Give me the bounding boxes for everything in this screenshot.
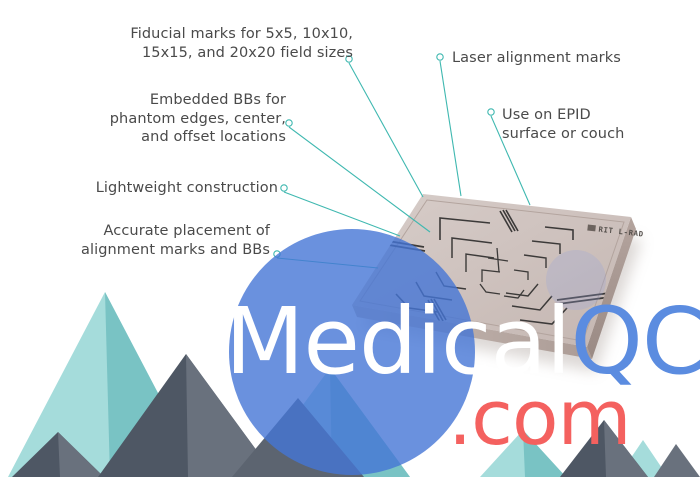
callout-embedded-bbs-leader-line bbox=[289, 127, 430, 232]
callout-use-on-epid-marker-dot bbox=[488, 109, 494, 115]
callout-embedded-bbs-marker-dot bbox=[286, 120, 292, 126]
poster-canvas: RIT L-RAD Fiducial marks for 5x5, 10x10,… bbox=[0, 0, 700, 477]
callout-lightweight-construction-leader-line bbox=[284, 192, 400, 236]
callout-lightweight-construction: Lightweight construction bbox=[40, 179, 278, 198]
callout-embedded-bbs-label: Embedded BBs for phantom edges, center, … bbox=[58, 91, 286, 147]
callout-accurate-placement-marker-dot bbox=[274, 251, 280, 257]
callout-use-on-epid: Use on EPID surface or couch bbox=[502, 106, 662, 143]
callout-laser-alignment-marks-leader-line bbox=[440, 61, 461, 196]
callout-fiducial-marks-leader-line bbox=[349, 63, 423, 197]
callout-fiducial-marks: Fiducial marks for 5x5, 10x10, 15x15, an… bbox=[95, 25, 353, 62]
callout-fiducial-marks-label: Fiducial marks for 5x5, 10x10, 15x15, an… bbox=[95, 25, 353, 62]
callout-accurate-placement-leader-line bbox=[277, 258, 378, 268]
callout-laser-alignment-marks: Laser alignment marks bbox=[452, 49, 662, 68]
callout-embedded-bbs: Embedded BBs for phantom edges, center, … bbox=[58, 91, 286, 147]
callout-lightweight-construction-label: Lightweight construction bbox=[40, 179, 278, 198]
callout-laser-alignment-marks-label: Laser alignment marks bbox=[452, 49, 662, 68]
callout-laser-alignment-marks-marker-dot bbox=[437, 54, 443, 60]
callout-lightweight-construction-marker-dot bbox=[281, 185, 287, 191]
callout-accurate-placement-label: Accurate placement of alignment marks an… bbox=[30, 222, 270, 259]
callout-use-on-epid-label: Use on EPID surface or couch bbox=[502, 106, 662, 143]
callout-accurate-placement: Accurate placement of alignment marks an… bbox=[30, 222, 270, 259]
